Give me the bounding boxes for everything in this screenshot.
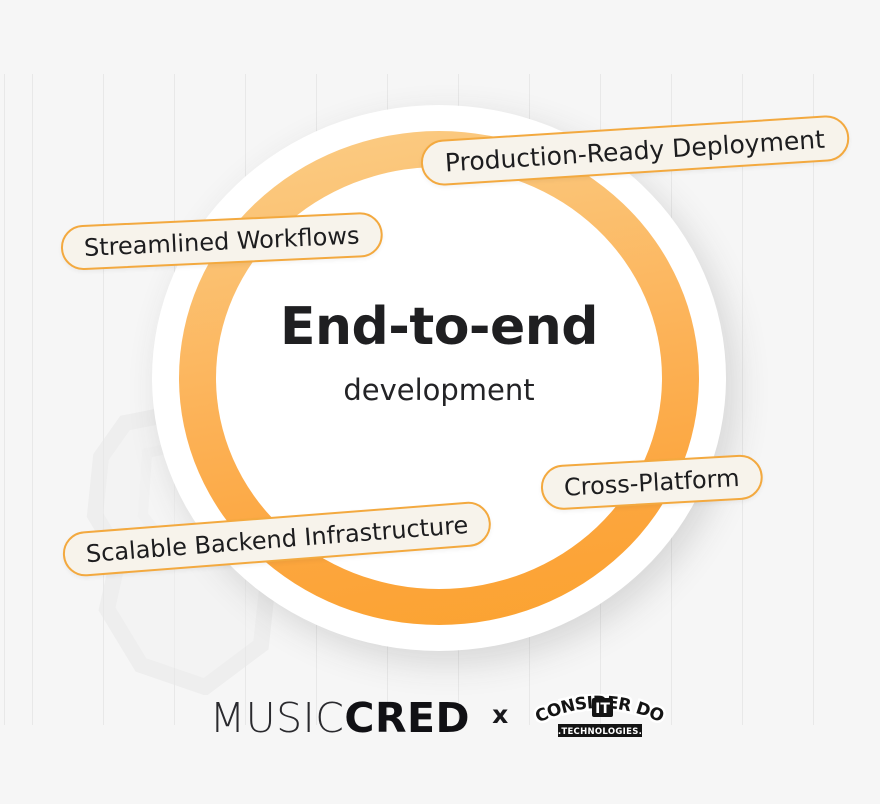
feature-pill-label: Cross-Platform — [563, 463, 740, 501]
center-text-block: End-to-end development — [152, 300, 726, 407]
musiccred-logo-bold: CRED — [344, 694, 470, 742]
feature-pill-label: Streamlined Workflows — [83, 221, 360, 261]
cid-word-it: IT — [595, 701, 610, 717]
musiccred-logo-light: MUSIC — [210, 694, 345, 742]
consider-it-done-logo: CONSIDER DONE CONSIDER DONE IT .TECHNOLO… — [530, 694, 670, 742]
musiccred-logo: MUSICCRED — [210, 694, 470, 742]
cid-tagline: .TECHNOLOGIES. — [558, 727, 642, 737]
page-subtitle: development — [152, 373, 726, 407]
footer-logos: MUSICCRED x CONSIDER DONE CONSIDER DONE — [0, 694, 880, 742]
collab-separator: x — [490, 700, 510, 729]
promo-graphic: End-to-end development Production-Ready … — [0, 0, 880, 804]
page-title: End-to-end — [152, 300, 726, 355]
